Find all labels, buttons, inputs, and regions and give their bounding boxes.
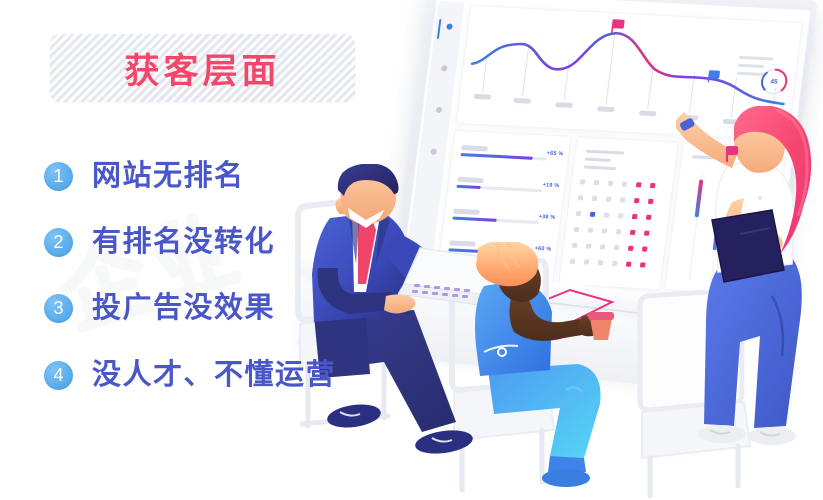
grid-dot bbox=[608, 181, 614, 186]
grid-dot bbox=[648, 199, 654, 204]
grid-dot bbox=[574, 227, 580, 232]
grid-dot bbox=[632, 214, 638, 219]
list-item-4: 4 没人才、不懂运营 bbox=[44, 355, 336, 395]
person-seated-coffee bbox=[454, 242, 644, 492]
sidebar-dot-2[interactable] bbox=[441, 65, 448, 71]
sidebar-active-indicator bbox=[437, 19, 442, 39]
grid-dot bbox=[618, 213, 624, 218]
list-number-badge-3: 3 bbox=[44, 294, 73, 323]
progress-percent: +38 % bbox=[538, 214, 556, 221]
grid-dot bbox=[604, 212, 610, 217]
sidebar-dot-3[interactable] bbox=[436, 107, 443, 113]
list-item-2: 2 有排名没转化 bbox=[44, 222, 275, 262]
illustration-canvas: 45 +65 % +19 % bbox=[0, 0, 823, 500]
list-label-1: 网站无排名 bbox=[92, 162, 245, 191]
grid-dot bbox=[590, 212, 596, 217]
grid-dot bbox=[636, 182, 642, 187]
list-number-badge-4: 4 bbox=[44, 361, 73, 390]
chart-peak-flag-icon bbox=[611, 19, 625, 34]
screen-marker-flag-icon bbox=[724, 144, 744, 166]
list-number-badge-2: 2 bbox=[44, 228, 73, 257]
grid-dot bbox=[644, 231, 650, 236]
progress-row: +65 % bbox=[462, 145, 562, 150]
page-title: 获客层面 bbox=[124, 43, 280, 94]
grid-dot bbox=[588, 228, 594, 233]
grid-dot bbox=[594, 180, 600, 185]
progress-percent: +65 % bbox=[546, 151, 564, 158]
list-number-badge-1: 1 bbox=[44, 162, 73, 191]
grid-dot bbox=[616, 229, 622, 234]
grid-dot bbox=[576, 211, 582, 216]
list-item-1: 1 网站无排名 bbox=[44, 156, 245, 196]
progress-fill bbox=[460, 153, 532, 159]
list-item-3: 3 投广告没效果 bbox=[44, 288, 275, 328]
chart-info-lines bbox=[737, 56, 773, 77]
grid-header-line bbox=[584, 165, 616, 170]
grid-dot bbox=[606, 197, 612, 202]
grid-dot bbox=[592, 196, 598, 201]
grid-dot bbox=[650, 183, 656, 188]
list-label-4: 没人才、不懂运营 bbox=[92, 361, 336, 390]
grid-header-line bbox=[586, 150, 624, 155]
list-label-2: 有排名没转化 bbox=[92, 228, 275, 257]
grid-dot bbox=[622, 181, 628, 186]
grid-dot bbox=[578, 195, 584, 200]
list-label-3: 投广告没效果 bbox=[92, 294, 275, 323]
grid-header-line bbox=[585, 158, 611, 162]
grid-dot bbox=[630, 230, 636, 235]
grid-dot bbox=[634, 198, 640, 203]
sidebar-dot-4[interactable] bbox=[430, 148, 437, 154]
dot-grid bbox=[578, 137, 678, 142]
grid-dot bbox=[620, 197, 626, 202]
sidebar-dot-1[interactable] bbox=[446, 23, 453, 29]
title-banner: 获客层面 bbox=[50, 34, 355, 102]
progress-percent: +19 % bbox=[542, 182, 560, 189]
progress-label-chip bbox=[461, 145, 488, 151]
gauge-value: 45 bbox=[766, 75, 782, 88]
grid-dot bbox=[646, 215, 652, 220]
grid-dot bbox=[580, 179, 586, 184]
person-presenter-woman bbox=[676, 106, 823, 500]
grid-dot bbox=[602, 228, 608, 233]
